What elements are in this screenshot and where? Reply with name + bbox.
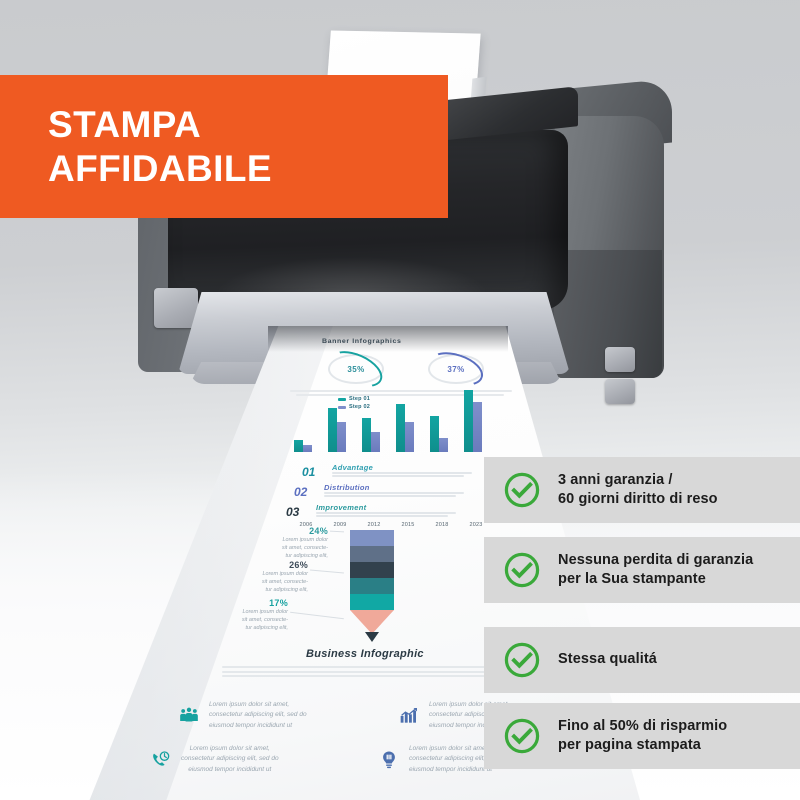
bar-step01 xyxy=(396,404,405,452)
bar-step01 xyxy=(430,416,439,452)
footer-item-1: Lorem ipsum dolor sit amet, consectetur … xyxy=(178,700,368,731)
funnel-callout: 24%Lorem ipsum dolor sit amet, consecte-… xyxy=(218,526,328,561)
funnel-body: Lorem ipsum dolor sit amet, consecte- tu… xyxy=(198,571,308,595)
bar-step01 xyxy=(362,418,371,452)
footer-text-1: Lorem ipsum dolor sit amet, consectetur … xyxy=(209,700,307,731)
printout-title: Banner Infographics xyxy=(322,338,401,344)
headline-line-1: STAMPA xyxy=(48,104,201,145)
funnel-segment xyxy=(350,562,394,578)
placeholder-line xyxy=(222,671,513,673)
funnel-callout: 17%Lorem ipsum dolor sit amet, consecte-… xyxy=(178,598,288,633)
check-circle-icon xyxy=(503,551,541,589)
poster-canvas: Banner Infographics 35% 37% Step 01 Step… xyxy=(0,0,800,800)
feature-box-2[interactable]: Nessuna perdita di garanzia per la Sua s… xyxy=(484,537,800,603)
phone-clock-icon xyxy=(150,750,172,770)
bar-category-label: 2012 xyxy=(361,522,387,528)
funnel-segment xyxy=(350,578,394,594)
check-circle-icon xyxy=(503,641,541,679)
feature-box-3[interactable]: Stessa qualitá xyxy=(484,627,800,693)
funnel-body: Lorem ipsum dolor sit amet, consecte- tu… xyxy=(178,609,288,633)
donut-value-2: 37% xyxy=(428,354,484,384)
funnel-point-icon xyxy=(365,632,379,642)
donut-chart-2: 37% xyxy=(428,354,484,384)
funnel-percent: 24% xyxy=(218,526,328,536)
bar-step02 xyxy=(473,402,482,452)
feature-label-2: Nessuna perdita di garanzia per la Sua s… xyxy=(558,551,753,589)
funnel-body: Lorem ipsum dolor sit amet, consecte- tu… xyxy=(218,537,328,561)
headline-line-2: AFFIDABILE xyxy=(48,148,272,189)
growth-chart-icon xyxy=(398,706,420,726)
bar-step02 xyxy=(405,422,414,452)
funnel-tip xyxy=(350,610,394,634)
donut-value-1: 35% xyxy=(328,354,384,384)
feature-box-4[interactable]: Fino al 50% di risparmio per pagina stam… xyxy=(484,703,800,769)
step-row: 01Advantage xyxy=(286,462,516,482)
step-row: 02Distribution xyxy=(286,482,516,502)
step-body-lines xyxy=(316,512,456,518)
step-body-lines xyxy=(324,492,464,498)
donut-chart-1: 35% xyxy=(328,354,384,384)
headline-banner: STAMPA AFFIDABILE xyxy=(0,75,448,218)
feature-box-1[interactable]: 3 anni garanzia / 60 giorni diritto di r… xyxy=(484,457,800,523)
check-circle-icon xyxy=(503,471,541,509)
funnel-segment xyxy=(350,546,394,562)
footer-text-3: Lorem ipsum dolor sit amet, consectetur … xyxy=(181,744,279,775)
step-number: 02 xyxy=(294,485,307,499)
step-body-lines xyxy=(332,472,472,478)
people-group-icon xyxy=(178,706,200,726)
check-circle-icon xyxy=(503,717,541,755)
step-row: 03Improvement xyxy=(286,502,516,522)
bar-chart: 200620092012201520182023 xyxy=(294,384,506,452)
funnel-percent: 26% xyxy=(198,560,308,570)
bar-step01 xyxy=(464,390,473,452)
bar-step01 xyxy=(294,440,303,452)
bar-step02 xyxy=(439,438,448,452)
placeholder-line xyxy=(222,675,498,677)
step-number: 03 xyxy=(286,505,299,519)
funnel-segment xyxy=(350,530,394,546)
business-infographic-title: Business Infographic xyxy=(306,648,424,660)
funnel-percent: 17% xyxy=(178,598,288,608)
feature-label-1: 3 anni garanzia / 60 giorni diritto di r… xyxy=(558,471,718,509)
feature-label-3: Stessa qualitá xyxy=(558,650,657,669)
bar-step02 xyxy=(337,422,346,452)
funnel-graphic xyxy=(350,530,394,642)
page-title: STAMPA AFFIDABILE xyxy=(48,103,272,190)
step-number: 01 xyxy=(302,465,315,479)
placeholder-line xyxy=(222,666,522,668)
footer-item-3: Lorem ipsum dolor sit amet, consectetur … xyxy=(150,744,360,775)
bar-category-label: 2018 xyxy=(429,522,455,528)
funnel-segment xyxy=(350,594,394,610)
bar-step01 xyxy=(328,408,337,452)
bar-category-label: 2009 xyxy=(327,522,353,528)
step-title: Advantage xyxy=(332,463,373,472)
lightbulb-icon xyxy=(378,750,400,770)
feature-label-4: Fino al 50% di risparmio per pagina stam… xyxy=(558,717,727,755)
step-title: Distribution xyxy=(324,483,370,492)
printer-button-left[interactable] xyxy=(154,288,198,328)
step-list: 01Advantage02Distribution03Improvement xyxy=(286,462,516,522)
bar-step02 xyxy=(303,445,312,452)
step-title: Improvement xyxy=(316,503,366,512)
bar-category-label: 2015 xyxy=(395,522,421,528)
bar-step02 xyxy=(371,432,380,452)
business-paragraph xyxy=(222,666,522,680)
funnel-callout: 26%Lorem ipsum dolor sit amet, consecte-… xyxy=(198,560,308,595)
